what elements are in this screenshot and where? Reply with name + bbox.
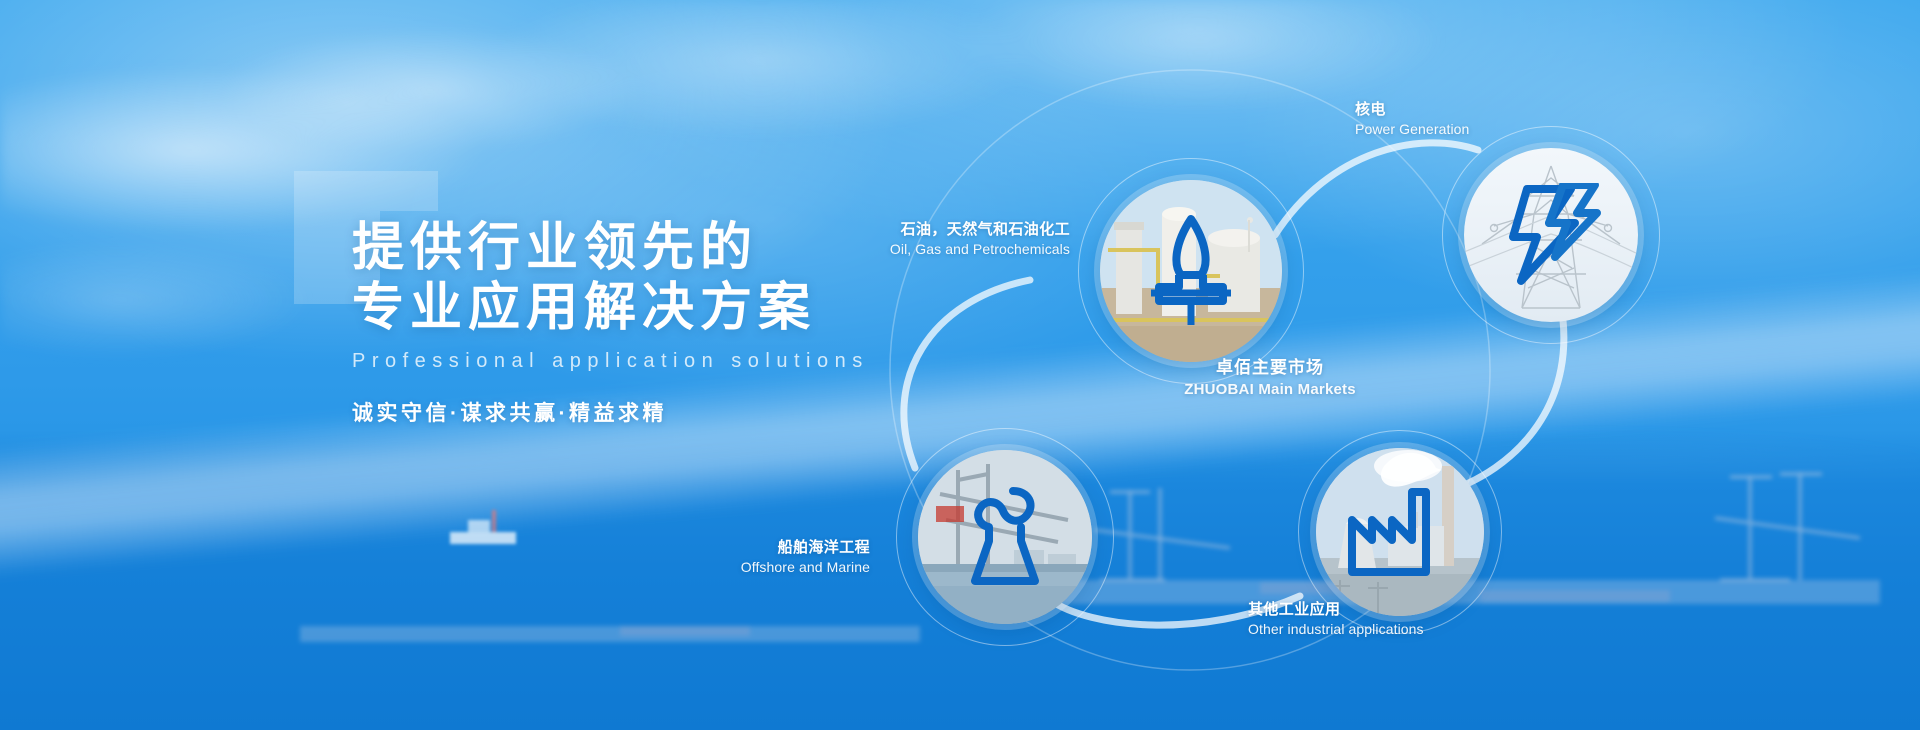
market-label-power[interactable]: 核电 Power Generation [1355,100,1469,139]
plant-scene [1316,448,1484,616]
market-label-industry[interactable]: 其他工业应用 Other industrial applications [1248,600,1424,639]
market-label-marine-cn: 船舶海洋工程 [560,538,870,558]
market-label-industry-cn: 其他工业应用 [1248,600,1424,620]
market-label-marine-en: Offshore and Marine [560,558,870,577]
diagram-center-label: 卓佰主要市场 ZHUOBAI Main Markets [1120,356,1420,399]
node-photo-industry [1316,448,1484,616]
power-plant-photo [1316,448,1484,616]
market-label-industry-en: Other industrial applications [1248,620,1424,639]
market-label-oil-en: Oil, Gas and Petrochemicals [660,240,1070,259]
node-photo-oil [1100,180,1282,362]
hero-banner: 提供行业领先的 专业应用解决方案 Professional applicatio… [0,0,1920,730]
market-label-oil-cn: 石油，天然气和石油化工 [660,220,1070,240]
market-label-oil[interactable]: 石油，天然气和石油化工 Oil, Gas and Petrochemicals [660,220,1070,259]
node-photo-power [1464,148,1638,322]
market-label-power-en: Power Generation [1355,120,1469,139]
pylon-scene [1464,148,1638,322]
node-photo-marine [918,450,1092,624]
harbour-scene [918,450,1092,624]
market-label-power-cn: 核电 [1355,100,1469,120]
oil-refinery-photo [1100,180,1282,362]
center-label-cn: 卓佰主要市场 [1120,356,1420,380]
market-label-marine[interactable]: 船舶海洋工程 Offshore and Marine [560,538,870,577]
port-crane-photo [918,450,1092,624]
markets-diagram: 石油，天然气和石油化工 Oil, Gas and Petrochemicals [0,0,1920,730]
center-label-en: ZHUOBAI Main Markets [1120,380,1420,399]
refinery-scene [1100,180,1282,362]
transmission-tower-photo [1464,148,1638,322]
